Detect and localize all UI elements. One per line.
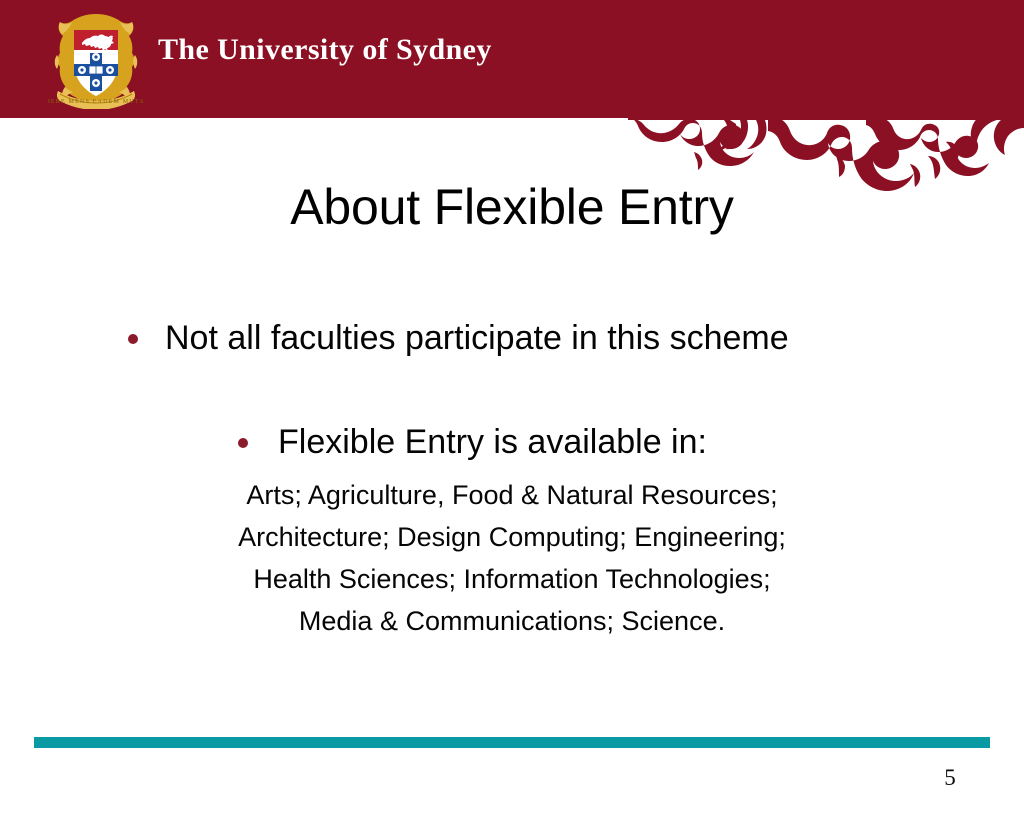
footer-divider <box>34 737 990 748</box>
bullet-dot-icon <box>128 334 138 344</box>
page-title: About Flexible Entry <box>0 178 1024 236</box>
bullet-item-2: Flexible Entry is available in: <box>238 421 707 464</box>
bullet-dot-icon <box>238 438 248 448</box>
faculty-line: Arts; Agriculture, Food & Natural Resour… <box>0 474 1024 516</box>
faculty-line: Media & Communications; Science. <box>0 600 1024 642</box>
bullet-item-1: Not all faculties participate in this sc… <box>128 317 928 360</box>
bullet-item-1-label: Not all faculties participate in this sc… <box>165 317 789 360</box>
page-number: 5 <box>930 765 970 791</box>
slide: SIDERE MENS EADEM MUTATO The University … <box>0 0 1024 837</box>
university-crest-icon: SIDERE MENS EADEM MUTATO <box>48 11 144 109</box>
bullet-item-2-label: Flexible Entry is available in: <box>278 421 707 464</box>
svg-text:SIDERE MENS EADEM MUTATO: SIDERE MENS EADEM MUTATO <box>48 99 144 105</box>
faculty-list: Arts; Agriculture, Food & Natural Resour… <box>0 474 1024 642</box>
university-wordmark: The University of Sydney <box>158 33 492 67</box>
faculty-line: Architecture; Design Computing; Engineer… <box>0 516 1024 558</box>
faculty-line: Health Sciences; Information Technologie… <box>0 558 1024 600</box>
header-band: SIDERE MENS EADEM MUTATO The University … <box>0 0 1024 118</box>
